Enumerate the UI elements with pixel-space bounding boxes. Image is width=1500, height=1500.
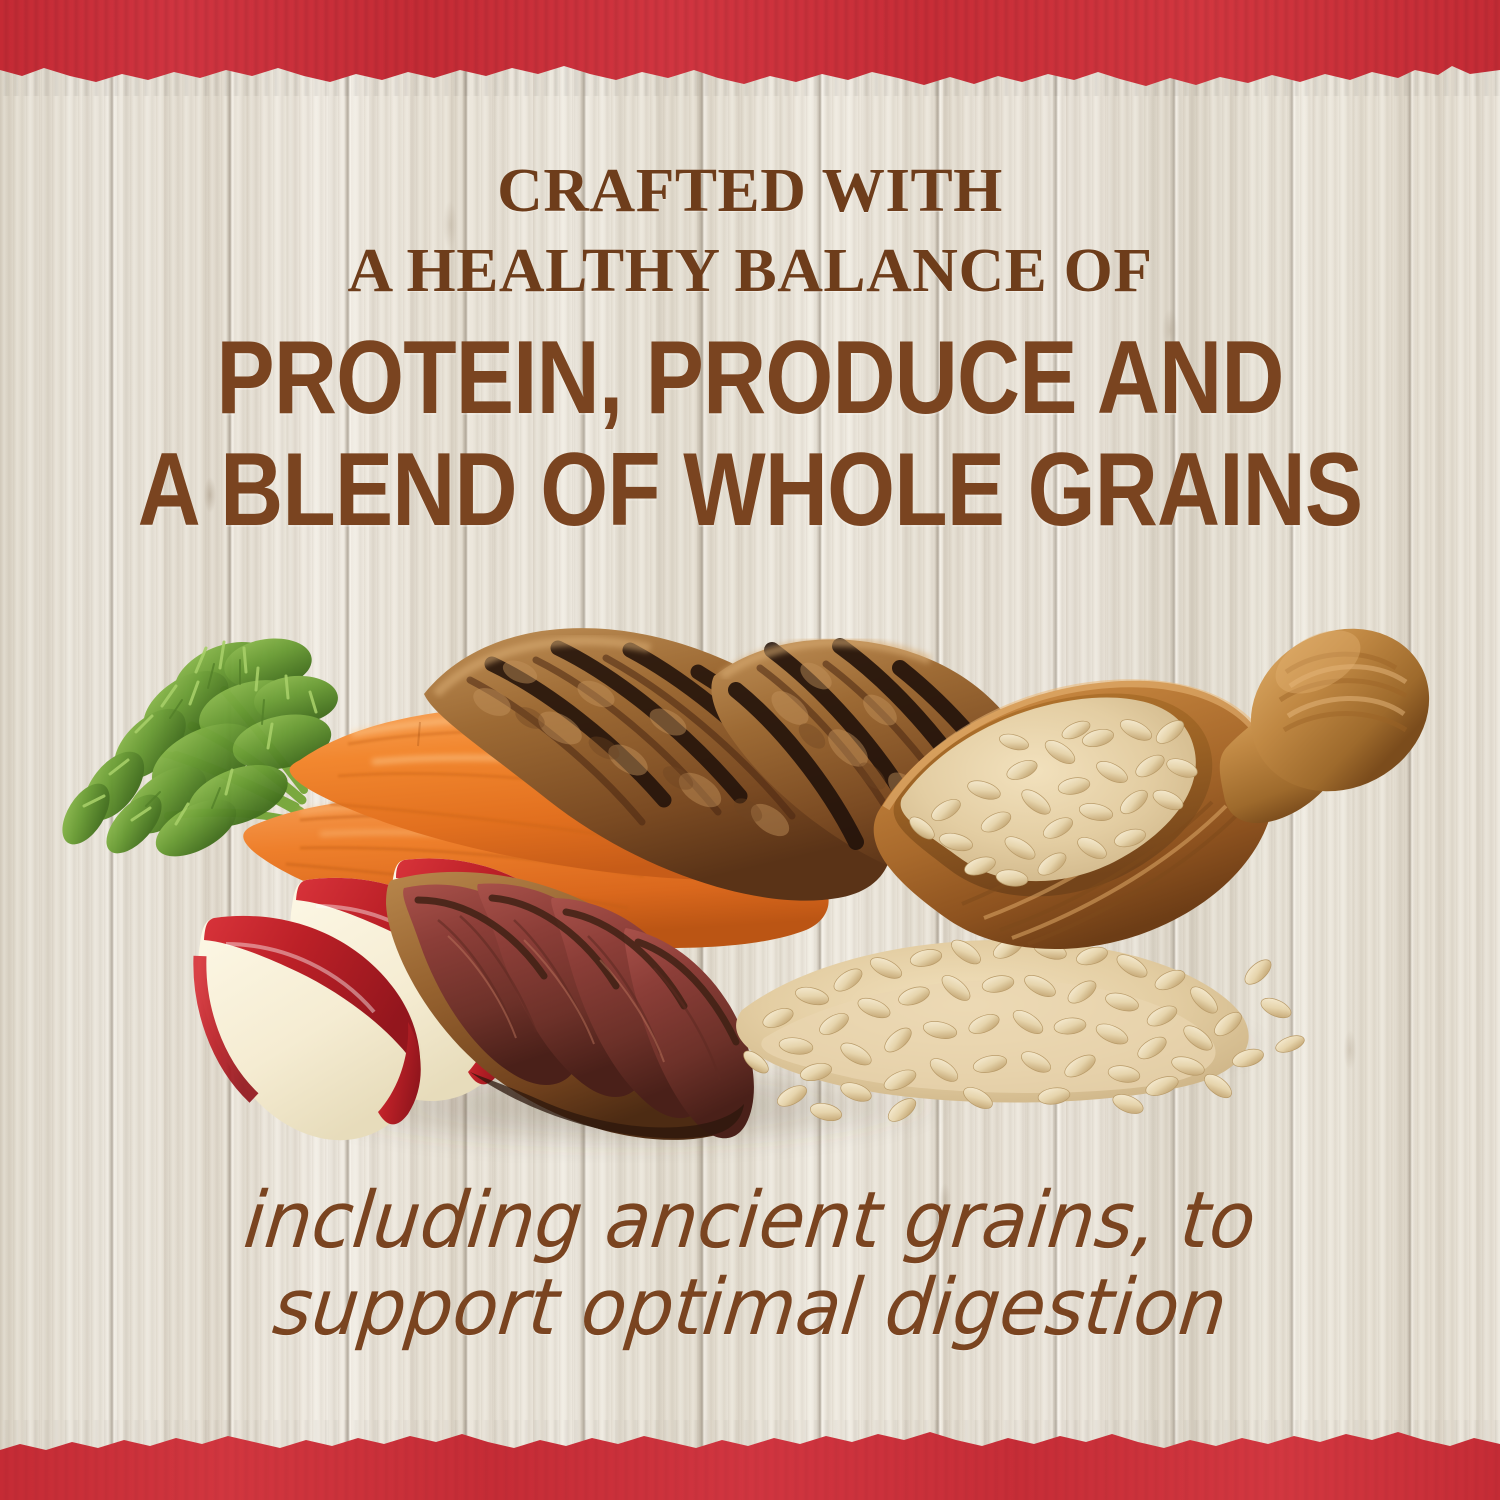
bottom-red-band [0,1420,1500,1500]
top-red-band [0,0,1500,96]
headline-line-4: A BLEND OF WHOLE GRAINS [120,440,1380,542]
subcopy-line-1: including ancient grains, to [33,1178,1467,1265]
subcopy-block: including ancient grains, to support opt… [0,1178,1500,1353]
headline-line-1: CRAFTED WITH [0,160,1500,222]
promo-panel: CRAFTED WITH A HEALTHY BALANCE OF PROTEI… [0,0,1500,1500]
headline-line-3: PROTEIN, PRODUCE AND [120,328,1380,430]
subcopy-line-2: support optimal digestion [33,1265,1467,1352]
headline-block: CRAFTED WITH A HEALTHY BALANCE OF PROTEI… [0,160,1500,542]
headline-line-2: A HEALTHY BALANCE OF [0,240,1500,302]
